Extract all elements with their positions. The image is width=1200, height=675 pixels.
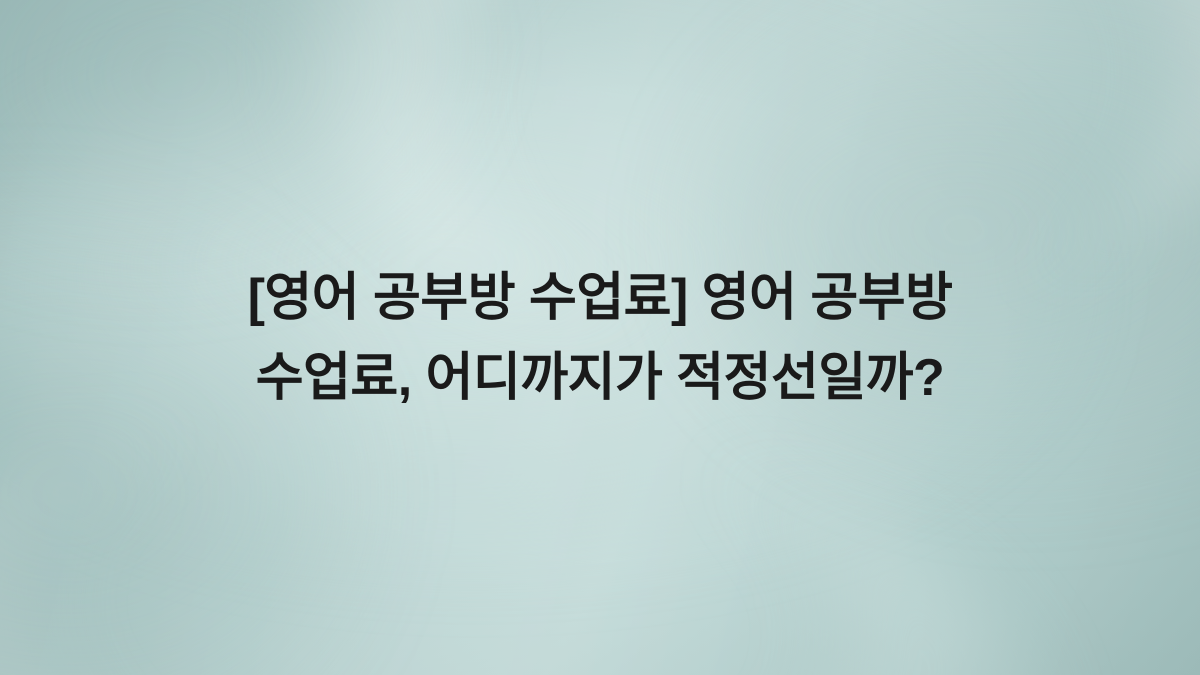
title-container: [영어 공부방 수업료] 영어 공부방 수업료, 어디까지가 적정선일까? bbox=[0, 0, 1200, 675]
page-title: [영어 공부방 수업료] 영어 공부방 수업료, 어디까지가 적정선일까? bbox=[188, 258, 1013, 418]
title-card: [영어 공부방 수업료] 영어 공부방 수업료, 어디까지가 적정선일까? bbox=[0, 0, 1200, 675]
title-line-2: 수업료, 어디까지가 적정선일까? bbox=[248, 338, 953, 418]
title-line-1: [영어 공부방 수업료] 영어 공부방 bbox=[248, 258, 953, 338]
